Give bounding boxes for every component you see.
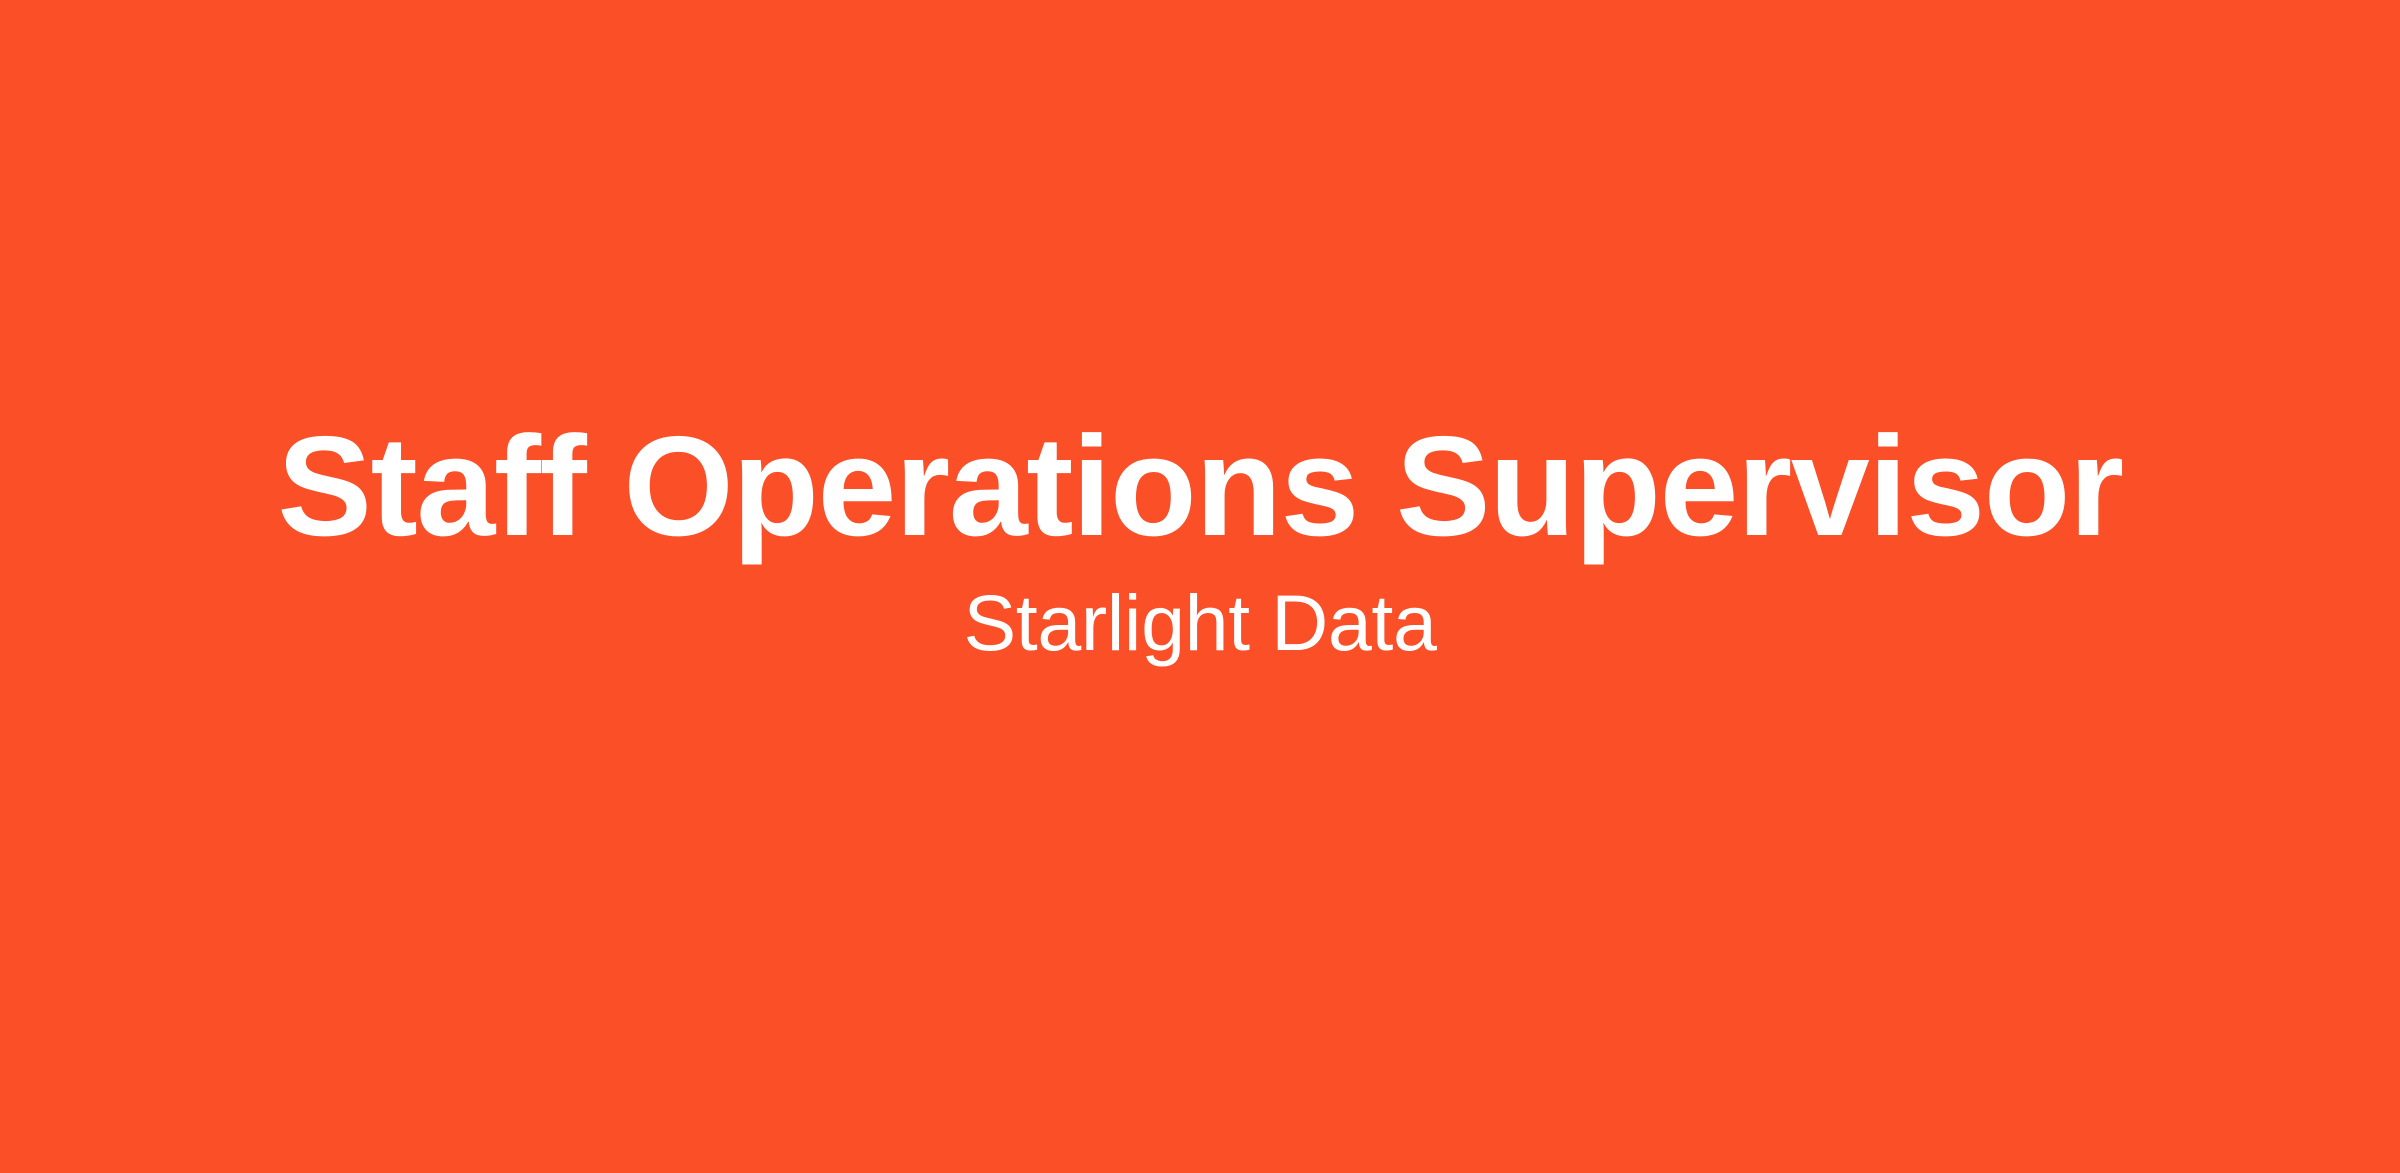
company-name: Starlight Data <box>963 576 1436 669</box>
hero-text-block: Staff Operations Supervisor Starlight Da… <box>0 407 2400 669</box>
job-title: Staff Operations Supervisor <box>277 407 2122 566</box>
job-posting-hero-card: Staff Operations Supervisor Starlight Da… <box>0 0 2400 1173</box>
